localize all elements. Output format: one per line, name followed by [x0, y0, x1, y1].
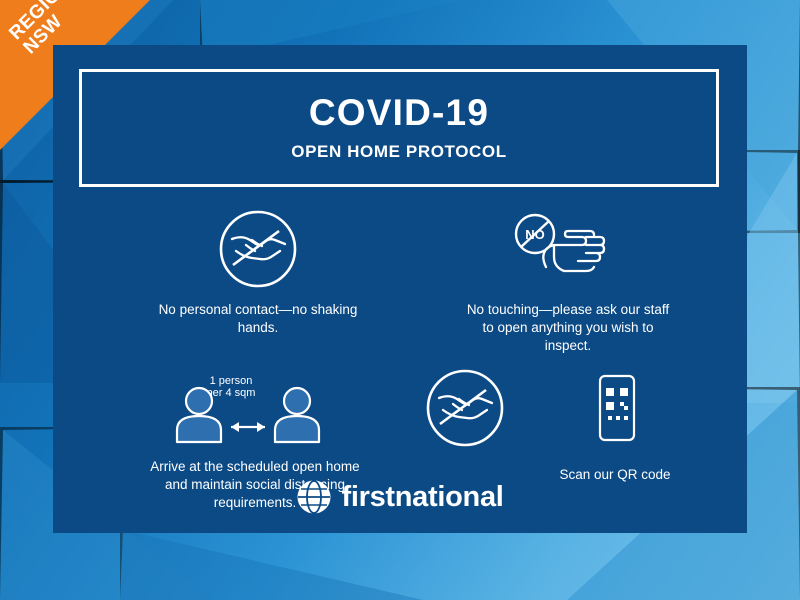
protocol-row-1: No personal contact—no shaking hands. NO… [143, 207, 683, 354]
protocol-item-no-touching: NO No touching—please ask our staff to o… [453, 207, 683, 354]
brand-name: firstnational [341, 481, 503, 514]
no-handshake-icon [423, 366, 507, 450]
protocol-caption-1: No personal contact—no shaking hands. [153, 301, 363, 337]
protocol-item-qr: Scan our QR code [535, 372, 695, 484]
qr-phone-icon [586, 372, 644, 456]
distancing-label-line1: 1 person [210, 375, 253, 387]
protocol-caption-2: No touching—please ask our staff to open… [463, 301, 673, 354]
distancing-label-line2: per 4 sqm [207, 387, 256, 399]
content-panel: COVID-19 OPEN HOME PROTOCOL No personal … [53, 45, 747, 533]
title-box: COVID-19 OPEN HOME PROTOCOL [79, 69, 719, 187]
protocol-item-no-contact: No personal contact—no shaking hands. [143, 207, 373, 354]
page-title: COVID-19 [309, 94, 489, 133]
page-subtitle: OPEN HOME PROTOCOL [291, 142, 506, 162]
facet-8 [120, 527, 423, 600]
protocol-item-no-contact-2 [410, 366, 520, 450]
no-touching-hand-icon: NO [508, 207, 628, 291]
social-distancing-icon: 1 person per 4 sqm [165, 370, 345, 448]
no-handshake-icon [216, 207, 300, 291]
brand-logo: firstnational [53, 479, 747, 515]
poster: REGIONAL NSW COVID-19 OPEN HOME PROTOCOL… [0, 0, 800, 600]
first-national-globe-icon [296, 479, 332, 515]
